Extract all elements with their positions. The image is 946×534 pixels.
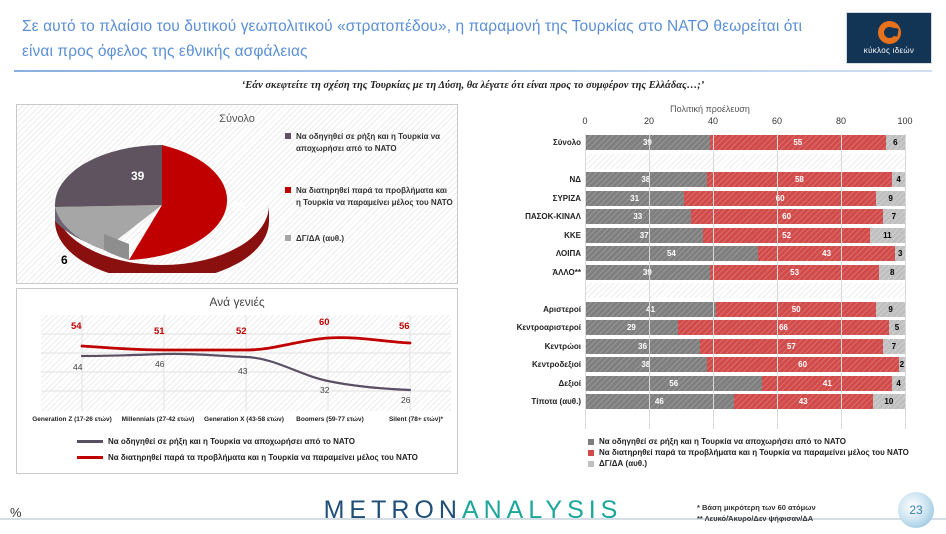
bar-legend-item-2: ΔΓ/ΔΑ (αυθ.) — [588, 458, 909, 469]
bar-segment-0: 36 — [585, 339, 700, 354]
bar-segment-2: 6 — [886, 135, 905, 150]
bar-segment-2: 7 — [883, 339, 905, 354]
bar-row-track: 41509 — [585, 302, 905, 317]
slide-header: Σε αυτό το πλαίσιο του δυτικού γεωπολιτι… — [0, 0, 946, 80]
pie-value-0: 39 — [131, 169, 144, 183]
bar-row-track — [585, 154, 905, 169]
line-chart-plot: 54 51 52 60 56 44 46 43 32 26 — [41, 315, 451, 411]
bar-row: Τίποτα (αυθ.)464310 — [480, 393, 940, 410]
bar-row: ΝΔ38584 — [480, 171, 940, 188]
bar-row-track: 31609 — [585, 191, 905, 206]
line-chart-title: Ανά γενιές — [17, 295, 457, 309]
pie-chart: 39 55 6 — [47, 137, 277, 273]
question-subtitle: ‘Εάν σκεφτείτε τη σχέση της Τουρκίας με … — [0, 80, 946, 91]
line-red-value-0: 54 — [71, 321, 82, 332]
bar-row-label: Τίποτα (αυθ.) — [480, 393, 581, 410]
bar-row — [480, 282, 940, 299]
bar-legend-label-2: ΔΓ/ΔΑ (αυθ.) — [599, 459, 647, 468]
line-gray-value-1: 46 — [155, 359, 164, 369]
line-red-value-1: 51 — [154, 326, 165, 337]
brand-analysis: ANALYSIS — [462, 496, 622, 524]
bar-row-label: ΣΥΡΙΖΑ — [480, 190, 581, 207]
pie-legend-item-1: Να διατηρηθεί παρά τα προβλήματα και η Τ… — [285, 185, 453, 209]
bar-segment-0: 37 — [585, 228, 703, 243]
bar-row: Δεξιοί56414 — [480, 375, 940, 392]
footnote-1: * Βάση μικρότερη των 60 ατόμων — [697, 502, 816, 513]
brand-metron: METRON — [324, 496, 462, 524]
bar-row: Σύνολο39556 — [480, 134, 940, 151]
bar-segment-2: 4 — [892, 172, 905, 187]
bar-segment-2: 11 — [870, 228, 905, 243]
bar-row-label: Κεντρώοι — [480, 338, 581, 355]
bar-row-label — [480, 282, 581, 299]
pie-legend-item-2: ΔΓ/ΔΑ (αυθ.) — [285, 233, 453, 245]
bar-row-track: 464310 — [585, 394, 905, 409]
bar-segment-0: 38 — [585, 172, 707, 187]
legend-line-icon — [77, 440, 103, 443]
page-number-badge: 23 — [898, 492, 934, 528]
bar-chart-legend: Να οδηγηθεί σε ρήξη και η Τουρκία να απο… — [588, 436, 909, 469]
x-tick-label-2: Generation X (43-58 ετών) — [201, 415, 287, 439]
line-chart-x-axis: Generation Z (17-26 ετών) Millennials (2… — [29, 415, 459, 439]
pie-legend-label-1: Να διατηρηθεί παρά τα προβλήματα και η Τ… — [296, 186, 453, 207]
pie-chart-title: Σύνολο — [17, 113, 457, 125]
bar-segment-2: 3 — [895, 246, 905, 261]
bar-segment-2: 2 — [899, 357, 905, 372]
bar-segment-0: 38 — [585, 357, 707, 372]
x-tick-60: 60 — [772, 116, 782, 126]
bar-row: ΛΟΙΠΑ54433 — [480, 245, 940, 262]
bar-segment-0: 33 — [585, 209, 691, 224]
bar-segment-0: 39 — [585, 135, 710, 150]
bar-row-label: Σύνολο — [480, 134, 581, 151]
bar-segment-2: 7 — [883, 209, 905, 224]
kyklos-ideon-logo: κύκλος ιδεών — [846, 12, 932, 64]
pie-value-1: 55 — [232, 200, 245, 214]
bar-row-label: ΚΚΕ — [480, 227, 581, 244]
line-legend-item-0: Να οδηγηθεί σε ρήξη και η Τουρκία να απο… — [77, 437, 418, 446]
line-legend-label-0: Να οδηγηθεί σε ρήξη και η Τουρκία να απο… — [108, 437, 355, 446]
bar-legend-label-1: Να διατηρηθεί παρά τα προβλήματα και η Τ… — [599, 448, 909, 457]
header-divider — [14, 70, 932, 72]
bar-segment-1: 43 — [758, 246, 896, 261]
legend-swatch-icon — [285, 235, 291, 241]
bar-legend-label-0: Να οδηγηθεί σε ρήξη και η Τουρκία να απο… — [599, 437, 846, 446]
bar-segment-2: 9 — [876, 191, 905, 206]
legend-swatch-icon — [285, 133, 291, 139]
logo-label: κύκλος ιδεών — [864, 46, 914, 55]
pie-legend-item-0: Να οδηγηθεί σε ρήξη και η Τουρκία να απο… — [285, 131, 453, 155]
bar-row-label: ΛΟΙΠΑ — [480, 245, 581, 262]
bar-row: Κεντροαριστεροί29665 — [480, 319, 940, 336]
bar-row-label: Κεντροδεξιοί — [480, 356, 581, 373]
bar-segment-1: 55 — [710, 135, 886, 150]
x-tick-40: 40 — [708, 116, 718, 126]
bar-segment-1: 66 — [678, 320, 889, 335]
bar-legend-item-1: Να διατηρηθεί παρά τα προβλήματα και η Τ… — [588, 447, 909, 458]
line-gray-value-3: 32 — [320, 385, 329, 395]
bar-chart-title: Πολιτική προέλευση — [480, 104, 940, 114]
bar-row-track: 33607 — [585, 209, 905, 224]
bar-row-track — [585, 283, 905, 298]
bar-row-track: 56414 — [585, 376, 905, 391]
bar-row: Κεντροδεξιοί38602 — [480, 356, 940, 373]
line-legend-item-1: Να διατηρηθεί παρά τα προβλήματα και η Τ… — [77, 453, 418, 462]
x-tick-label-3: Boomers (59-77 ετών) — [287, 415, 373, 439]
total-pie-panel: Σύνολο 39 55 6 Να οδηγηθεί σε ρήξη και η… — [16, 104, 458, 284]
bar-segment-0: 46 — [585, 394, 734, 409]
pie-legend-label-2: ΔΓ/ΔΑ (αυθ.) — [296, 234, 344, 243]
bar-segment-0: 29 — [585, 320, 678, 335]
bar-row: ΠΑΣΟΚ-ΚΙΝΑΛ33607 — [480, 208, 940, 225]
bar-row: ΆΛΛΟ**39538 — [480, 264, 940, 281]
pie-value-2: 6 — [61, 253, 68, 267]
bar-row-track: 54433 — [585, 246, 905, 261]
bar-row-track: 375211 — [585, 228, 905, 243]
line-red-value-4: 56 — [399, 321, 410, 332]
bar-row-label: ΆΛΛΟ** — [480, 264, 581, 281]
line-legend-label-1: Να διατηρηθεί παρά τα προβλήματα και η Τ… — [108, 453, 418, 462]
bar-segment-0: 41 — [585, 302, 716, 317]
x-tick-0: 0 — [582, 116, 587, 126]
bar-segment-1: 53 — [710, 265, 880, 280]
line-red-value-2: 52 — [236, 326, 247, 337]
bar-row-track: 36577 — [585, 339, 905, 354]
line-red-value-3: 60 — [319, 317, 330, 328]
bar-segment-0: 56 — [585, 376, 762, 391]
x-tick-20: 20 — [644, 116, 654, 126]
bar-row-label: Δεξιοί — [480, 375, 581, 392]
bar-segment-1: 41 — [762, 376, 892, 391]
footnotes: * Βάση μικρότερη των 60 ατόμων ** Λευκό/… — [697, 502, 816, 524]
bar-row-label: Αριστεροί — [480, 301, 581, 318]
bar-segment-2: 5 — [889, 320, 905, 335]
political-origin-bar-chart: Πολιτική προέλευση 0 20 40 60 80 100 Σύν… — [480, 104, 940, 474]
legend-swatch-icon — [588, 439, 594, 445]
line-gray-value-0: 44 — [73, 362, 82, 372]
bar-segment-1: 52 — [703, 228, 869, 243]
bar-row — [480, 153, 940, 170]
bar-legend-item-0: Να οδηγηθεί σε ρήξη και η Τουρκία να απο… — [588, 436, 909, 447]
bar-row-track: 38584 — [585, 172, 905, 187]
bar-row: Αριστεροί41509 — [480, 301, 940, 318]
bar-row-label: Κεντροαριστεροί — [480, 319, 581, 336]
x-tick-label-4: Silent (78+ ετών)* — [373, 415, 459, 439]
circle-logo-icon — [878, 21, 901, 44]
bar-chart-x-axis: 0 20 40 60 80 100 — [585, 116, 905, 128]
legend-line-icon — [77, 456, 103, 459]
line-gray-value-2: 43 — [238, 366, 247, 376]
line-chart-legend: Να οδηγηθεί σε ρήξη και η Τουρκία να απο… — [77, 437, 418, 469]
x-tick-label-0: Generation Z (17-26 ετών) — [29, 415, 115, 439]
bar-row-label: ΠΑΣΟΚ-ΚΙΝΑΛ — [480, 208, 581, 225]
x-tick-label-1: Millennials (27-42 ετών) — [115, 415, 201, 439]
bar-segment-0: 39 — [585, 265, 710, 280]
bar-row-track: 39556 — [585, 135, 905, 150]
bar-segment-0: 54 — [585, 246, 758, 261]
x-tick-100: 100 — [897, 116, 912, 126]
pie-legend: Να οδηγηθεί σε ρήξη και η Τουρκία να απο… — [285, 131, 453, 249]
bar-row: ΚΚΕ375211 — [480, 227, 940, 244]
generations-line-panel: Ανά γενιές 54 51 52 60 56 44 46 43 32 — [16, 288, 458, 474]
bar-segment-1: 43 — [734, 394, 873, 409]
bar-segment-0: 31 — [585, 191, 684, 206]
bar-row: ΣΥΡΙΖΑ31609 — [480, 190, 940, 207]
bar-segment-1: 60 — [684, 191, 876, 206]
footnote-2: ** Λευκό/Άκυρο/Δεν ψήφισαν/ΔΑ — [697, 513, 816, 524]
bar-row-track: 38602 — [585, 357, 905, 372]
page-title: Σε αυτό το πλαίσιο του δυτικού γεωπολιτι… — [22, 14, 822, 64]
legend-swatch-icon — [588, 461, 594, 467]
bar-segment-1: 57 — [700, 339, 882, 354]
bar-row-label — [480, 153, 581, 170]
pie-legend-label-0: Να οδηγηθεί σε ρήξη και η Τουρκία να απο… — [296, 132, 440, 153]
bar-segment-2: 4 — [892, 376, 905, 391]
bar-row-track: 29665 — [585, 320, 905, 335]
bar-segment-1: 50 — [716, 302, 876, 317]
legend-swatch-icon — [588, 450, 594, 456]
legend-swatch-icon — [285, 187, 291, 193]
bar-chart-rows: Σύνολο39556ΝΔ38584ΣΥΡΙΖΑ31609ΠΑΣΟΚ-ΚΙΝΑΛ… — [480, 134, 940, 412]
bar-segment-1: 60 — [707, 357, 899, 372]
x-tick-80: 80 — [836, 116, 846, 126]
bar-segment-1: 58 — [707, 172, 893, 187]
bar-segment-1: 60 — [691, 209, 883, 224]
line-gray-value-4: 26 — [401, 395, 410, 405]
bar-segment-2: 8 — [879, 265, 905, 280]
bar-row: Κεντρώοι36577 — [480, 338, 940, 355]
bar-segment-2: 10 — [873, 394, 905, 409]
bar-row-label: ΝΔ — [480, 171, 581, 188]
bar-segment-2: 9 — [876, 302, 905, 317]
bar-row-track: 39538 — [585, 265, 905, 280]
